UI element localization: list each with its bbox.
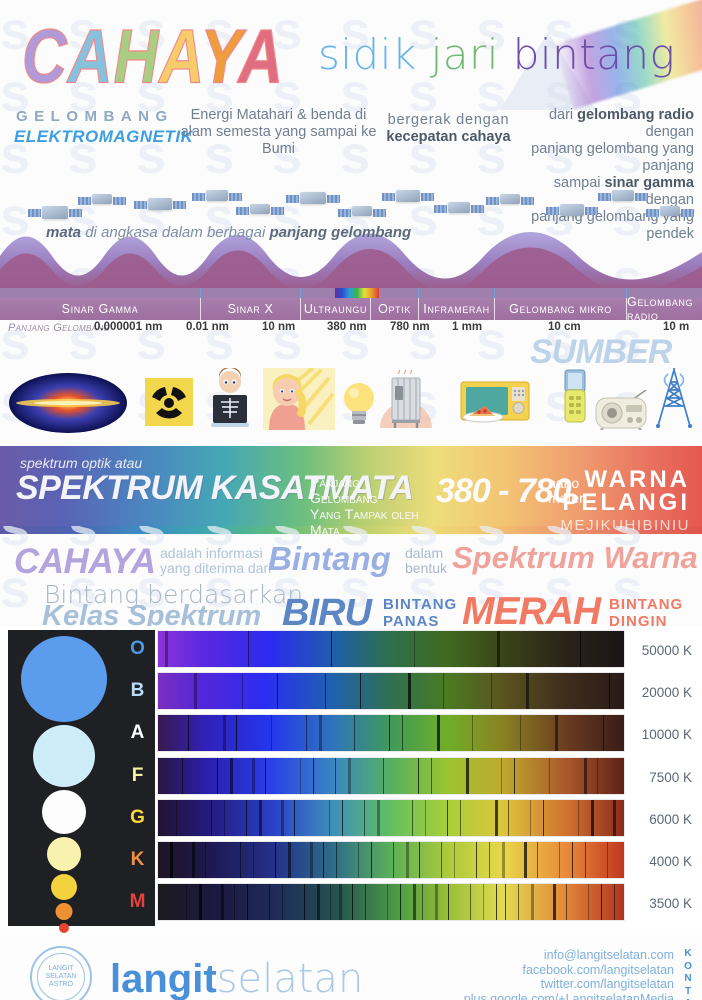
statement-cahaya: CAHAYA [14,542,156,582]
spectra-strips-column [157,630,625,926]
intro-c1: dari [549,107,577,123]
caption-mid: di angkasa dalam berbagai [81,224,269,241]
spectral-class-column: OBAFGKM [120,630,155,926]
spectral-class-O: O [120,638,155,660]
star-size-dot-M [59,923,69,933]
viz-warna-pelangi: WARNA PELANGI MEJIKUHIBINIU [560,468,690,537]
lightbulb-icon [340,380,378,426]
statement-section: CAHAYA adalah informasi yang diterima da… [0,534,702,626]
intro-c2: dengan [646,124,694,140]
header: CAHAYA sidik jari bintang [0,0,702,100]
star-size-dot-A [42,790,86,834]
star-size-dot-O [21,636,107,722]
title-letter-1: A [68,15,114,99]
temperature-label-K: 4000 K [649,854,692,869]
statement-bentuk: bentuk [405,561,447,576]
star-size-dot-B [33,725,95,787]
mobile-phone-icon [560,368,590,426]
em-band-optik[interactable]: Optik [370,298,418,320]
statement-dalam: dalam [405,546,447,561]
spectrum-strip-K[interactable] [157,841,625,879]
subtitle-word-2: bintang [513,30,675,79]
statement-panas-1: BINTANG [383,596,457,613]
satellites-waves-section: mata di angkasa dalam berbagai panjang g… [0,188,702,288]
page-subtitle: sidik jari bintang [318,30,675,79]
spectrum-strip-A[interactable] [157,714,625,752]
satellite-icon [250,204,270,214]
statement-bintang-panas: BINTANG PANAS [383,596,457,630]
em-spectrum-bar: Sinar GammaSinar XUltraunguOptikInframer… [0,288,702,368]
temperature-label-O: 50000 K [642,643,692,658]
title-letter-5: A [238,15,284,99]
caption-mata-angkasa: mata di angkasa dalam berbagai panjang g… [46,224,411,241]
wavelength-value: 0.01 nm [186,321,229,333]
absorption-lines [158,884,624,920]
kontak-letter: N [682,973,694,986]
viz-pg-line1: Panjang Gelombang [310,474,430,506]
spectrum-strip-F[interactable] [157,757,625,795]
satellite-icon [448,202,470,213]
kontak-letter: O [682,961,694,974]
intro-section: GELOMBANG ELEKTROMAGNETIK Energi Matahar… [0,100,702,188]
statement-adalah: adalah informasi yang diterima dari [160,546,271,576]
kontak-letter: K [682,948,694,961]
temperature-label-G: 6000 K [649,812,692,827]
wavelength-value: 0.000001 nm [94,321,162,333]
spectral-class-G: G [120,807,155,829]
statement-adalah-2: yang diterima dari [160,561,271,576]
wavelength-value: 380 nm [327,321,367,333]
wavelength-value: 10 nm [262,321,295,333]
uv-sunbathing-icon [263,368,335,430]
intro-gelombang-radio: gelombang radio [577,107,694,123]
star-size-column [8,630,120,926]
em-band-inframerah[interactable]: Inframerah [418,298,494,320]
satellite-icon [352,206,372,216]
page-title: CAHAYA [22,14,284,101]
intro-bergerak: bergerak dengan [388,112,510,128]
spectral-class-B: B [120,680,155,702]
source-row: SUMBER [0,336,702,368]
kontak-vertical-label: KONTAK [682,948,694,1000]
title-letter-0: C [22,15,68,99]
star-size-dot-K [56,903,73,920]
satellite-icon [92,194,112,204]
wavelength-value: 780 nm [390,321,430,333]
contact-line[interactable]: facebook.com/langitselatan [464,963,674,978]
intro-c3: panjang gelombang yang panjang [531,141,694,174]
temperature-label-F: 7500 K [649,770,692,785]
spectral-class-K: K [120,849,155,871]
source-icons-band [0,368,702,446]
xray-person-icon [205,368,255,430]
satellite-icon [206,190,228,201]
statement-adalah-1: adalah informasi [160,546,271,561]
star-size-dot-G [51,874,77,900]
radio-receiver-icon [592,390,654,430]
radiation-hazard-icon [145,378,193,426]
spectral-class-A: A [120,722,155,744]
wavelength-value: 10 m [663,321,689,333]
satellite-icon [500,194,520,204]
em-tick [200,288,201,298]
contact-line[interactable]: plus.google.com/+LangitselatanMedia [464,992,674,1000]
viz-pelangi: PELANGI [560,491,690,514]
em-band-sinar-x[interactable]: Sinar X [200,298,300,320]
absorption-lines [158,673,624,709]
spectral-class-F: F [120,765,155,787]
absorption-lines [158,800,624,836]
infographic-page: ssssssssssssssssssssssssssssssssssssssss… [0,0,702,1000]
satellite-icon [612,190,634,201]
seal-inner-text: LANGIT SELATAN ASTRO [37,953,85,1000]
sumber-watermark: SUMBER [530,333,671,372]
visible-spectrum-banner: spektrum optik atau SPEKTRUM KASATMATA P… [0,446,702,526]
viz-warna: WARNA [560,468,690,491]
title-letter-2: H [114,15,160,99]
kontak-letter: T [682,986,694,999]
title-letter-4: Y [201,15,239,99]
statement-bintang-dingin: BINTANG DINGIN [609,596,683,630]
statement-bintang: Bintang [268,540,391,578]
em-tick [418,288,419,298]
satellite-icon [42,206,68,219]
intro-text-kecepatan: bergerak dengan kecepatan cahaya [386,112,511,146]
subtitle-word-0: sidik [318,30,431,79]
contact-line[interactable]: info@langitselatan.com [464,948,674,963]
wavelength-value: 1 mm [452,321,482,333]
brand-selatan: selatan [217,956,364,1000]
stellar-spectra-chart: OBAFGKM 50000 K20000 K10000 K7500 K6000 … [0,626,702,934]
spectrum-strip-O[interactable] [157,630,625,668]
heater-icon [378,370,434,428]
contact-line[interactable]: twitter.com/langitselatan [464,977,674,992]
statement-dingin-1: BINTANG [609,596,683,613]
brand-langit: langit [110,957,217,1000]
wavelength-value: 10 cm [548,321,581,333]
radio-tower-icon [650,368,698,430]
satellite-icon [560,204,584,216]
spectrum-strip-B[interactable] [157,672,625,710]
microwave-oven-icon [455,380,533,426]
statement-dalam-bentuk: dalam bentuk [405,546,447,576]
caption-panjang-gelombang: panjang gelombang [270,224,412,241]
label-elektromagnetik: ELEKTROMAGNETIK [14,127,193,147]
star-size-dot-F [47,837,81,871]
satellite-icon [660,206,680,216]
brand-logo: langitselatan [110,956,363,1000]
absorption-lines [158,631,624,667]
caption-mata: mata [46,224,81,241]
intro-kecepatan-cahaya: kecepatan cahaya [386,129,510,145]
langitselatan-seal-icon: LANGIT SELATAN ASTRO [30,946,92,1000]
absorption-lines [158,715,624,751]
temperature-label-B: 20000 K [642,685,692,700]
label-gelombang: GELOMBANG [16,108,174,125]
gamma-sky-map-icon [8,372,128,434]
statement-spektrum-warna: Spektrum Warna [452,540,698,576]
subtitle-word-1: jari [431,30,513,79]
intro-text-energi: Energi Matahari & benda di alam semesta … [176,107,381,158]
spectrum-strip-M[interactable] [157,883,625,921]
spectral-class-M: M [120,891,155,913]
temperature-label-A: 10000 K [642,727,692,742]
temperature-label-M: 3500 K [649,896,692,911]
temperature-column: 50000 K20000 K10000 K7500 K6000 K4000 K3… [628,630,702,926]
em-tick [494,288,495,298]
footer: LANGIT SELATAN ASTRO langitselatan info@… [0,934,702,1000]
em-band-strip: Sinar GammaSinar XUltraunguOptikInframer… [0,298,702,320]
em-band-sinar-gamma[interactable]: Sinar Gamma [0,298,200,320]
satellite-icon [300,192,326,204]
em-band-gelombang-mikro[interactable]: Gelombang mikro [494,298,626,320]
spectrum-strip-G[interactable] [157,799,625,837]
contact-list: info@langitselatan.comfacebook.com/langi… [464,948,674,1000]
em-band-ultraungu[interactable]: Ultraungu [300,298,370,320]
absorption-lines [158,842,624,878]
em-tick [300,288,301,298]
title-letter-3: A [159,15,200,99]
absorption-lines [158,758,624,794]
satellite-icon [396,190,420,202]
satellite-icon [148,198,172,210]
viz-panjang-gelombang-label: Panjang Gelombang Yang Tampak oleh Mata [310,474,430,538]
em-band-gelombang-radio[interactable]: Gelombang radio [626,298,702,320]
